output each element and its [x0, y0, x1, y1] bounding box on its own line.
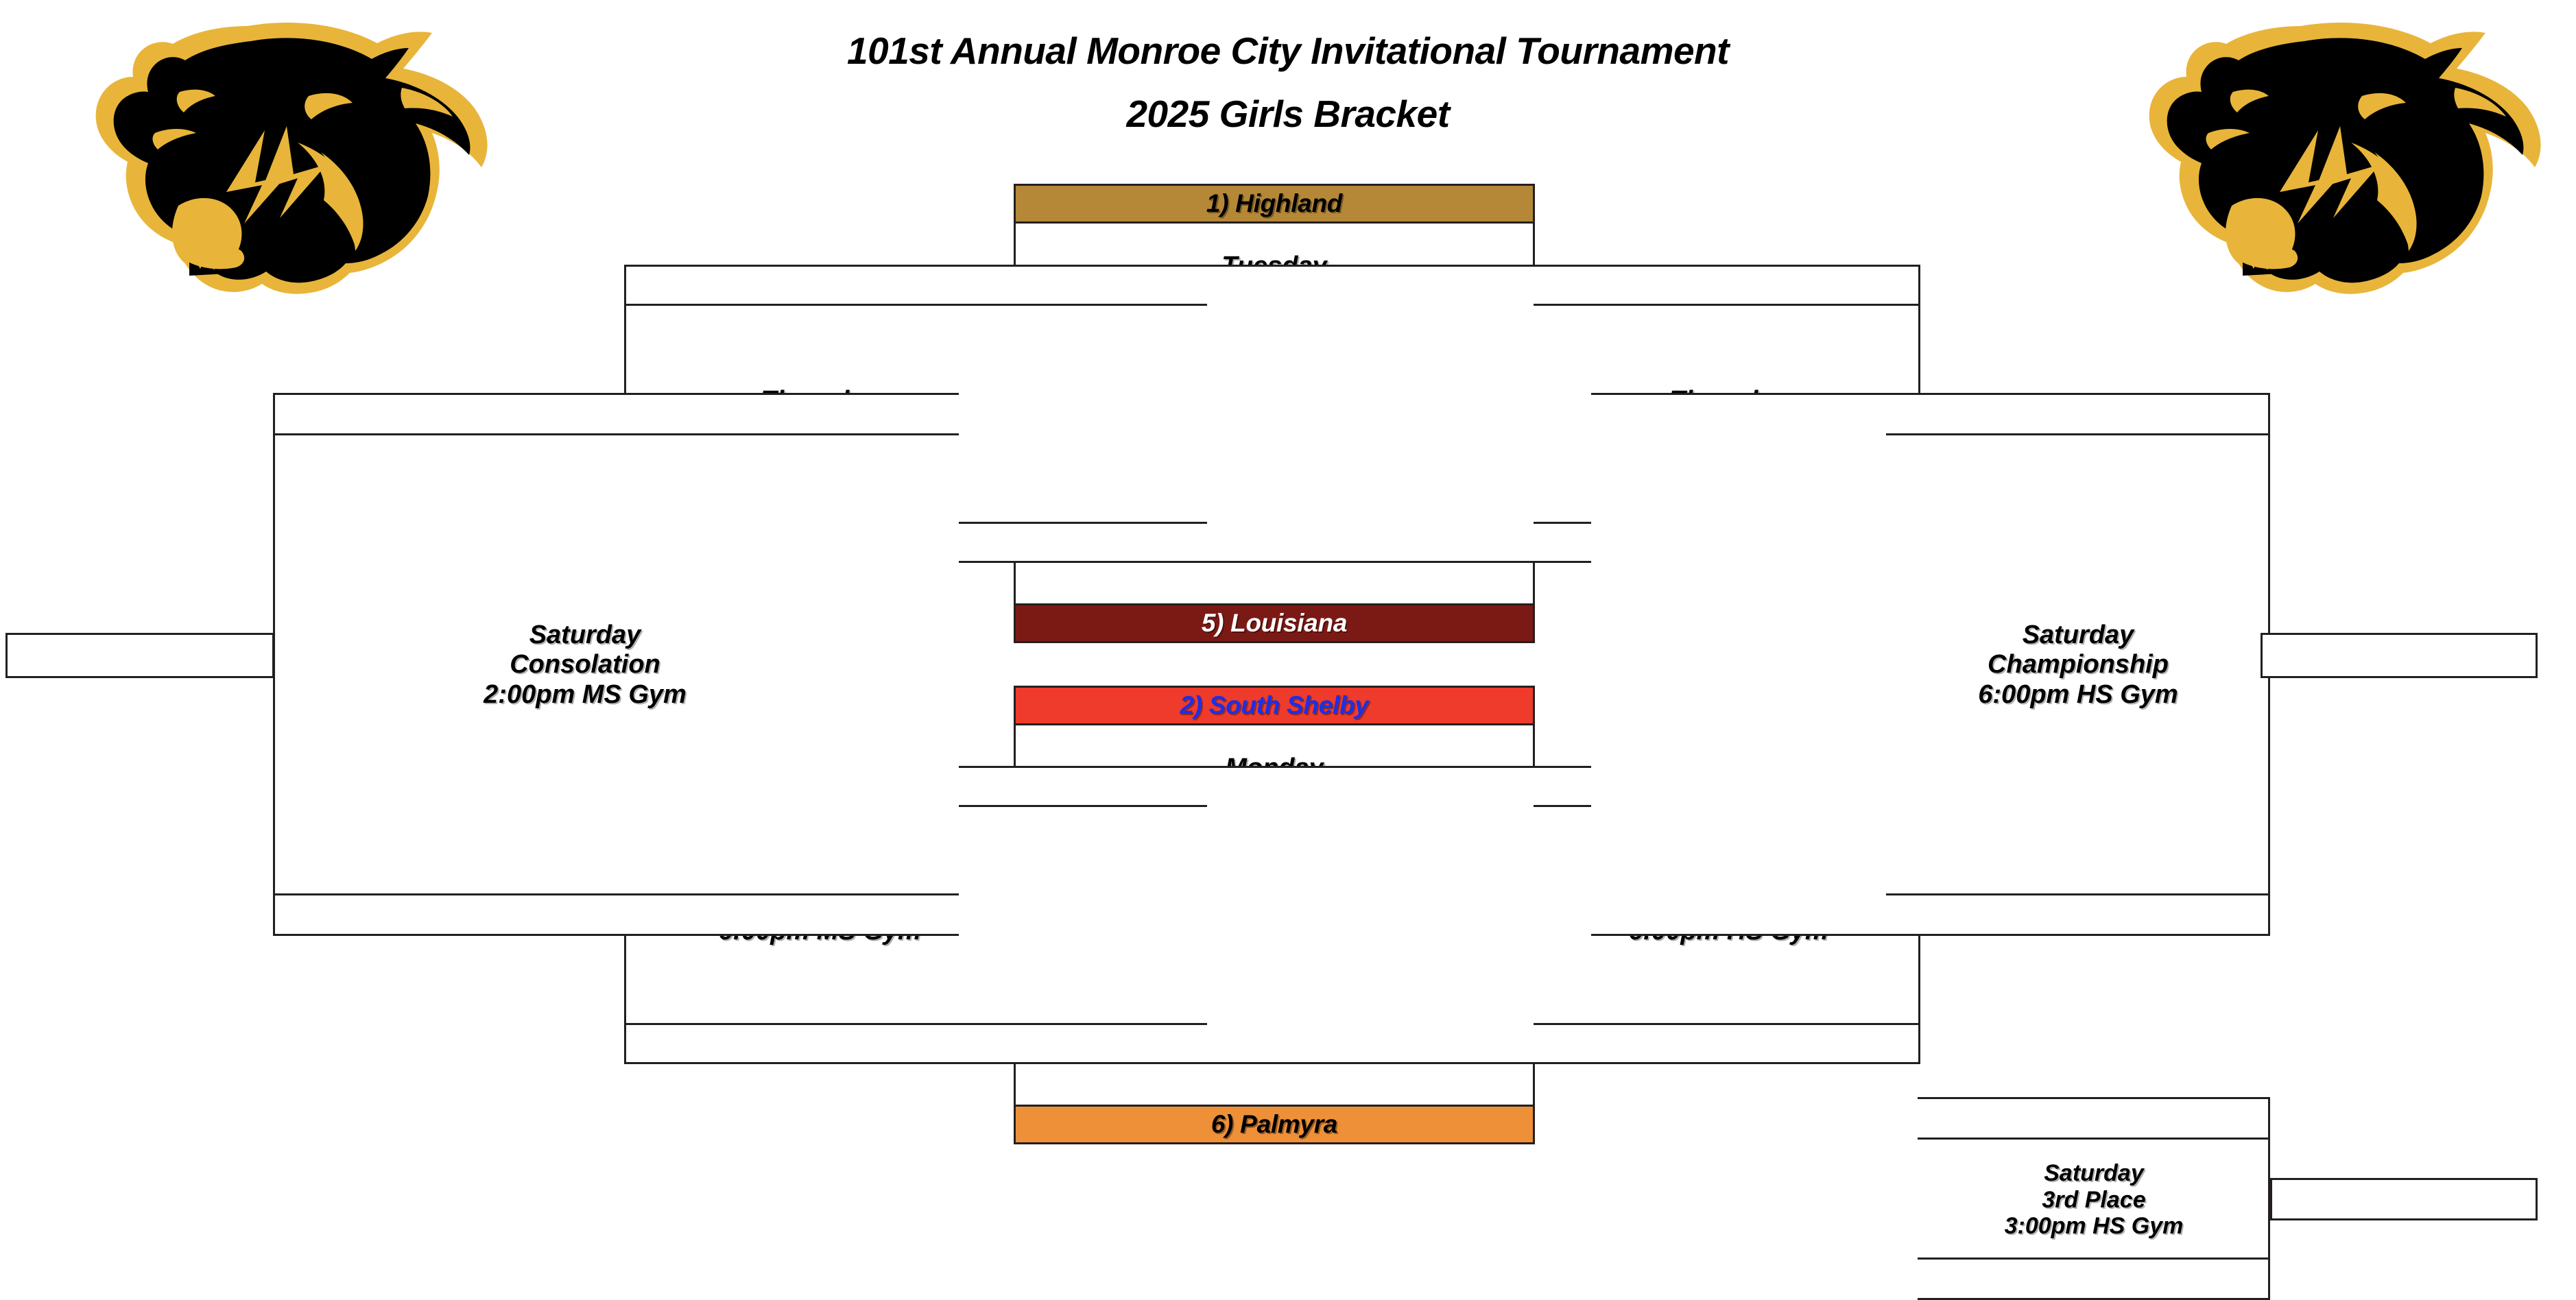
page-subtitle: 2025 Girls Bracket — [0, 92, 2576, 136]
team-slot-palmyra[interactable]: 6) Palmyra — [1014, 1105, 1535, 1144]
champion-winner-box[interactable] — [2261, 633, 2538, 678]
consolation-winner-box[interactable] — [5, 633, 274, 678]
third-place-slot-lower[interactable] — [1918, 1257, 2270, 1300]
championship-box — [1591, 393, 2270, 936]
championship-slot-upper[interactable] — [1886, 393, 2270, 435]
team-label: 2) South Shelby — [1180, 691, 1368, 720]
third-place-winner-box[interactable] — [2270, 1178, 2538, 1220]
championship-slot-lower[interactable] — [1886, 893, 2270, 936]
consolation-final-slot-upper[interactable] — [273, 393, 959, 435]
team-slot-louisiana[interactable]: 5) Louisiana — [1014, 603, 1535, 643]
consolation-final-box — [273, 393, 959, 936]
semi-top-slot-upper[interactable] — [1534, 265, 1920, 306]
team-label: 1) Highland — [1206, 189, 1342, 218]
team-slot-south-shelby[interactable]: 2) South Shelby — [1014, 686, 1535, 725]
consolation-final-slot-lower[interactable] — [273, 893, 959, 936]
team-label: 6) Palmyra — [1211, 1110, 1337, 1139]
semi-bottom-slot-lower[interactable] — [1534, 1023, 1920, 1064]
team-slot-highland[interactable]: 1) Highland — [1014, 184, 1535, 224]
page-title: 101st Annual Monroe City Invitational To… — [0, 29, 2576, 73]
third-place-slot-upper[interactable] — [1918, 1097, 2270, 1140]
team-label: 5) Louisiana — [1202, 609, 1347, 638]
